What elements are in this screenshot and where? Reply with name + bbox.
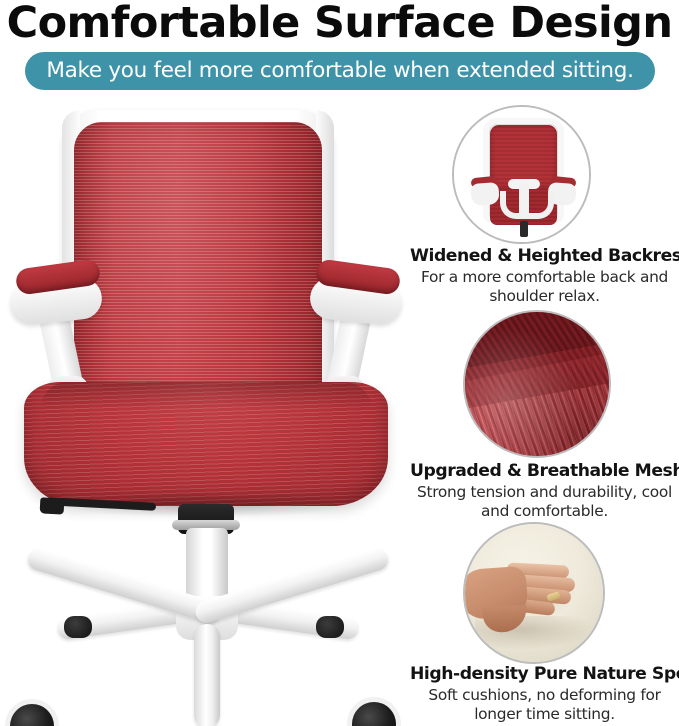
feature-title-backrest: Widened & Heighted Backrest bbox=[410, 246, 679, 266]
feature-backrest-spine bbox=[519, 183, 529, 217]
feature-desc-backrest: For a more comfortable back and shoulder… bbox=[410, 268, 679, 305]
feature-desc-sponge: Soft cushions, no deforming for longer t… bbox=[410, 686, 679, 723]
feature-image-mesh bbox=[463, 310, 611, 458]
feature-backrest-arm-shell-left bbox=[470, 182, 499, 206]
main-product-image bbox=[0, 96, 412, 726]
height-adjust-lever-handle bbox=[40, 497, 65, 514]
backrest-mesh bbox=[74, 122, 322, 404]
caster-lower-right bbox=[352, 702, 396, 726]
caster-lower-left bbox=[10, 704, 54, 726]
caster-upper-left bbox=[64, 616, 92, 638]
feature-image-backrest bbox=[452, 105, 591, 244]
feature-backrest-post bbox=[520, 221, 528, 237]
subtitle-banner: Make you feel more comfortable when exte… bbox=[25, 52, 655, 90]
base-leg-front bbox=[194, 624, 220, 726]
page-title: Comfortable Surface Design bbox=[0, 0, 679, 48]
feature-mesh-highlight bbox=[465, 312, 609, 456]
seat-front-shading bbox=[40, 382, 372, 410]
feature-title-sponge: High-density Pure Nature Sponge bbox=[410, 664, 679, 684]
product-feature-infographic: Comfortable Surface Design Make you feel… bbox=[0, 0, 679, 726]
feature-backrest-upper-mesh bbox=[490, 125, 557, 187]
feature-desc-mesh: Strong tension and durability, cool and … bbox=[410, 483, 679, 520]
feature-title-mesh: Upgraded & Breathable Mesh bbox=[410, 461, 679, 481]
feature-image-sponge bbox=[463, 522, 605, 664]
caster-upper-right bbox=[316, 616, 344, 638]
